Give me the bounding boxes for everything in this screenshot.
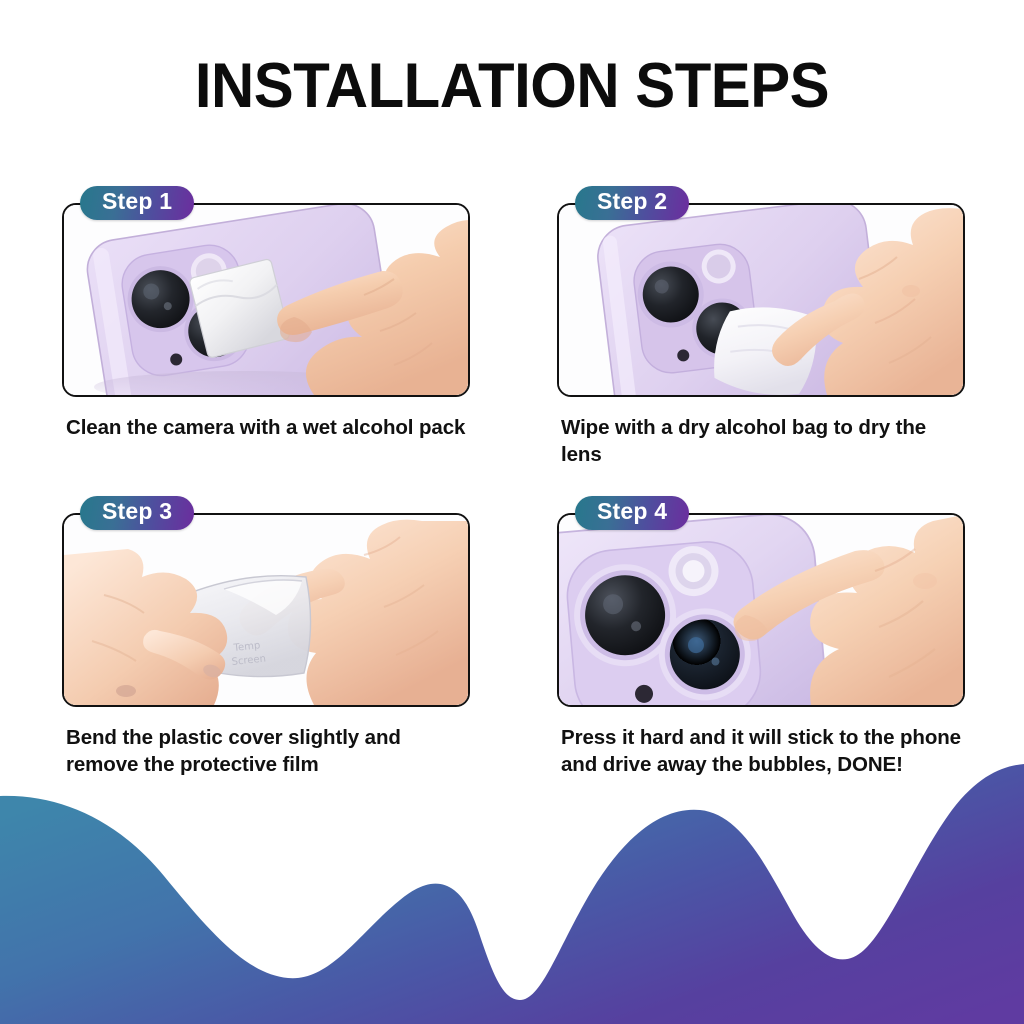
step-illustration-3: Temp Screen [64,515,468,705]
step-badge-1: Step 1 [80,186,194,220]
step-badge-3: Step 3 [80,496,194,530]
step-image-frame-2 [557,203,965,397]
page-title: INSTALLATION STEPS [26,50,999,122]
step-image-frame-4 [557,513,965,707]
installation-steps-page: INSTALLATION STEPS Step 1 [0,0,1024,1024]
step-illustration-4 [559,515,963,705]
step-caption-2: Wipe with a dry alcohol bag to dry the l… [561,414,963,468]
step-image-frame-1 [62,203,470,397]
step-illustration-2 [559,205,963,395]
step-badge-4: Step 4 [575,496,689,530]
step-image-frame-3: Temp Screen [62,513,470,707]
step-caption-1: Clean the camera with a wet alcohol pack [66,414,468,441]
step-badge-2: Step 2 [575,186,689,220]
bottom-wave-decoration [0,764,1024,1024]
step-illustration-1 [64,205,468,395]
